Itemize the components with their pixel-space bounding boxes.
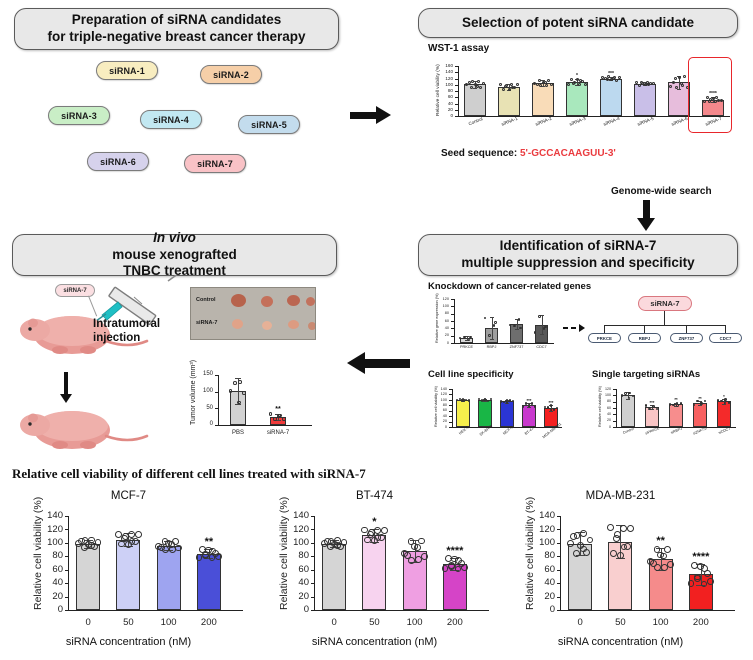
data-point — [162, 546, 169, 553]
y-tick — [557, 610, 560, 611]
genome-wide-search-label: Genome-wide search — [611, 186, 712, 197]
y-tick-label: 80 — [442, 88, 453, 93]
bar-sirbpj — [669, 404, 682, 427]
significance-marker: ** — [195, 536, 223, 548]
y-tick-label: 120 — [442, 76, 453, 81]
data-point — [499, 83, 502, 86]
data-point — [652, 405, 654, 407]
y-tick-label: 140 — [438, 387, 447, 391]
sirna-pill-1: siRNA-1 — [96, 61, 158, 80]
y-axis-title: Relative cell viability (%) — [524, 497, 536, 610]
y-tick — [557, 583, 560, 584]
data-point — [674, 77, 677, 80]
y-tick-label: 80 — [602, 399, 611, 403]
bar-sirna-2 — [532, 83, 553, 116]
gene-tree-branch-4 — [725, 325, 726, 333]
error-cap-bottom — [540, 334, 544, 335]
y-tick-label: 100 — [535, 537, 555, 548]
y-tick — [449, 389, 452, 390]
data-point — [614, 531, 621, 538]
y-tick-label: 60 — [289, 564, 309, 575]
sirna-pill-1-label: siRNA-1 — [109, 66, 145, 76]
y-tick-label: 120 — [43, 524, 63, 535]
y-tick — [557, 516, 560, 517]
data-point — [545, 84, 548, 87]
knockdown-heading: Knockdown of cancer-related genes — [428, 281, 591, 292]
y-tick — [557, 556, 560, 557]
data-point — [617, 552, 624, 559]
gene-node-znf737: ZNF737 — [670, 333, 703, 343]
data-point — [717, 399, 719, 401]
y-tick-label: 40 — [438, 414, 447, 418]
x-tick-label: 200 — [665, 617, 737, 628]
data-point — [408, 557, 415, 564]
panel-invivo-rest: mouse xenografted — [112, 247, 237, 264]
bar-sirna-1 — [498, 87, 519, 116]
y-tick — [455, 116, 458, 117]
sirna-pill-2: siRNA-2 — [200, 65, 262, 84]
y-tick-label: 80 — [43, 550, 63, 561]
data-point — [238, 380, 242, 384]
y-tick — [613, 389, 616, 390]
y-tick — [613, 414, 616, 415]
data-point — [683, 75, 686, 78]
data-point — [242, 391, 246, 395]
sirna-pill-3: siRNA-3 — [48, 106, 110, 125]
x-axis-title: siRNA concentration (nM) — [508, 636, 733, 648]
y-tick — [451, 314, 454, 315]
data-point — [421, 553, 428, 560]
y-tick — [449, 416, 452, 417]
significance-marker: **** — [687, 551, 715, 563]
y-tick-label: 140 — [535, 510, 555, 521]
x-axis-title: siRNA concentration (nM) — [262, 636, 487, 648]
tumor-photo: Control siRNA-7 — [190, 287, 316, 340]
y-tick-label: 140 — [442, 69, 453, 74]
data-point — [282, 417, 286, 421]
chart-cellline-specificity: 020406080100120140Relative cell viabilit… — [428, 383, 566, 445]
bar-control — [464, 84, 485, 116]
error-bar — [542, 315, 543, 334]
panel-identification-line1: Identification of siRNA-7 — [461, 238, 694, 255]
significance-marker: * — [360, 516, 388, 528]
sirna-pill-3-label: siRNA-3 — [61, 111, 97, 121]
data-point — [493, 324, 495, 326]
panel-title-invivo: In vivo mouse xenografted TNBC treatment — [12, 234, 337, 276]
data-point — [621, 394, 623, 396]
data-point — [669, 403, 671, 405]
seed-sequence-line: Seed sequence: 5'-GCCACAAGUU-3' — [441, 148, 616, 159]
data-point — [667, 561, 674, 568]
y-tick-label: 0 — [289, 604, 309, 615]
data-point — [553, 408, 555, 410]
data-point — [456, 399, 458, 401]
gene-node-znf737-label: ZNF737 — [679, 336, 695, 341]
sirna-pill-5-label: siRNA-5 — [251, 120, 287, 130]
y-axis-title: Relative cell viability (%) — [598, 386, 602, 427]
gene-node-prkce-label: PRKCE — [597, 336, 612, 341]
error-cap-bottom — [698, 405, 702, 406]
y-axis — [560, 516, 561, 610]
significance-marker: **** — [441, 545, 469, 557]
error-cap-bottom — [650, 409, 654, 410]
y-tick — [449, 400, 452, 401]
data-point — [638, 84, 641, 87]
y-tick — [613, 427, 616, 428]
y-tick-label: 40 — [440, 326, 449, 330]
sirna-pill-6: siRNA-6 — [87, 152, 149, 171]
y-tick-label: 140 — [43, 510, 63, 521]
gene-node-rbpj-label: RBPJ — [639, 336, 651, 341]
gene-tree-crossbar — [604, 325, 726, 326]
data-point — [580, 530, 587, 537]
data-point — [269, 412, 273, 416]
data-point — [518, 318, 520, 320]
bar-50 — [116, 540, 140, 611]
data-point — [628, 392, 630, 394]
y-axis — [68, 516, 69, 610]
data-point — [418, 538, 425, 545]
data-point — [506, 401, 508, 403]
data-point — [680, 402, 682, 404]
y-tick-label: 0 — [442, 113, 453, 118]
data-point — [624, 543, 631, 550]
data-point — [341, 539, 348, 546]
tumor-dot — [262, 321, 272, 330]
y-tick-label: 0 — [43, 604, 63, 615]
data-point — [620, 525, 627, 532]
data-point — [584, 83, 587, 86]
data-point — [547, 406, 549, 408]
gene-node-rbpj: RBPJ — [628, 333, 661, 343]
data-point — [539, 84, 542, 87]
chart-title: BT-474 — [262, 490, 487, 502]
intratumoral-line1: Intratumoral — [93, 318, 160, 332]
data-point — [481, 399, 483, 401]
y-tick-label: 100 — [199, 388, 213, 394]
mouse-illustration-bottom — [14, 400, 149, 458]
y-tick-label: 100 — [442, 82, 453, 87]
gene-node-cdc7: CDC7 — [709, 333, 742, 343]
bar-sirna-3 — [566, 82, 587, 116]
y-tick — [449, 394, 452, 395]
y-tick — [311, 556, 314, 557]
dashed-arrow-to-gene-tree — [563, 324, 585, 332]
y-tick — [613, 402, 616, 403]
data-point — [516, 83, 519, 86]
y-tick-label: 20 — [438, 419, 447, 423]
single-targeting-heading: Single targeting siRNAs — [592, 369, 700, 380]
data-point — [624, 392, 626, 394]
chart-title: MDA-MB-231 — [508, 490, 733, 502]
data-point — [128, 531, 135, 538]
data-point — [502, 88, 505, 91]
error-cap-bottom — [527, 407, 531, 408]
y-tick — [215, 392, 218, 393]
y-tick — [65, 516, 68, 517]
arrow-identification-to-invivo — [347, 352, 410, 374]
data-point — [522, 405, 524, 407]
y-axis — [452, 389, 453, 427]
sirna-pill-4: siRNA-4 — [140, 110, 202, 129]
data-point — [652, 82, 655, 85]
arrow-invivo-progression — [60, 372, 72, 403]
y-tick — [65, 583, 68, 584]
y-tick — [311, 516, 314, 517]
data-point — [676, 404, 678, 406]
x-axis — [68, 610, 243, 611]
tumor-dot — [287, 295, 300, 306]
data-point — [215, 553, 222, 560]
data-point — [635, 81, 638, 84]
y-tick-label: 160 — [442, 63, 453, 68]
y-tick — [455, 72, 458, 73]
y-tick-label: 20 — [442, 107, 453, 112]
y-tick — [455, 79, 458, 80]
y-tick — [215, 375, 218, 376]
data-point — [273, 417, 277, 421]
data-point — [691, 562, 698, 569]
y-axis — [314, 516, 315, 610]
significance-marker: *** — [597, 71, 625, 77]
y-tick-label: 20 — [602, 418, 611, 422]
data-point — [500, 400, 502, 402]
data-point — [688, 580, 695, 587]
y-tick-label: 20 — [43, 591, 63, 602]
data-point — [135, 531, 142, 538]
y-tick-label: 120 — [289, 524, 309, 535]
data-point — [700, 402, 702, 404]
data-point — [278, 414, 282, 418]
tumor-dot — [306, 297, 315, 306]
panel-identification-line2: multiple suppression and specificity — [461, 255, 694, 272]
chart-bt474: 020406080100120140Relative cell viabilit… — [262, 486, 487, 656]
panel-title-preparation: Preparation of siRNA candidates for trip… — [14, 8, 339, 50]
significance-marker: ** — [264, 406, 292, 413]
y-tick-label: 40 — [289, 577, 309, 588]
data-point — [484, 398, 486, 400]
bar-sicdc7 — [717, 401, 730, 427]
y-tick — [311, 597, 314, 598]
y-axis-title: Relative cell viability (%) — [434, 386, 438, 427]
y-axis-title: Tumor volume (mm³) — [190, 360, 197, 425]
gene-node-prkce: PRKCE — [588, 333, 621, 343]
intratumoral-line2: injection — [93, 332, 160, 346]
y-tick-label: 80 — [289, 550, 309, 561]
bar-0 — [76, 544, 100, 610]
data-point — [469, 336, 471, 338]
y-tick — [311, 543, 314, 544]
y-tick-label: 120 — [602, 387, 611, 391]
y-tick — [451, 336, 454, 337]
error-cap-bottom — [490, 339, 494, 340]
seed-sequence-value: 5'-GCCACAAGUU-3' — [520, 148, 616, 159]
sirna-pill-7-label: siRNA-7 — [197, 159, 233, 169]
wst1-highlight-box — [688, 57, 732, 133]
data-point — [567, 83, 570, 86]
data-point — [672, 81, 675, 84]
significance-marker: * — [563, 73, 591, 79]
y-tick — [613, 421, 616, 422]
x-tick-label: 200 — [173, 617, 245, 628]
y-tick — [455, 85, 458, 86]
y-tick — [557, 570, 560, 571]
y-tick — [451, 343, 454, 344]
data-point — [465, 83, 468, 86]
chart-tumor-volume: 050100150Tumor volume (mm³)PBS**siRNA-7 — [178, 365, 306, 447]
y-axis-title: Relative cell viability (%) — [278, 497, 290, 610]
data-point — [477, 80, 480, 83]
sirna-pill-6-label: siRNA-6 — [100, 157, 136, 167]
data-point — [627, 525, 634, 532]
data-point — [547, 79, 550, 82]
data-point — [509, 399, 511, 401]
y-tick-label: 40 — [442, 101, 453, 106]
data-point — [378, 534, 385, 541]
gene-tree-branch-1 — [604, 325, 605, 333]
y-tick-label: 40 — [602, 412, 611, 416]
y-tick-label: 0 — [535, 604, 555, 615]
data-point — [567, 540, 574, 547]
y-tick-label: 0 — [438, 425, 447, 429]
x-axis — [218, 425, 312, 426]
y-axis — [218, 375, 219, 425]
y-tick — [449, 427, 452, 428]
tumor-dot — [308, 322, 316, 330]
error-cap-bottom — [677, 89, 681, 90]
tumor-photo-label-control: Control — [196, 297, 216, 303]
significance-marker: *** — [537, 400, 565, 405]
panel-invivo-line1: In vivo mouse xenografted — [112, 230, 237, 264]
panel-title-selection: Selection of potent siRNA candidate — [418, 8, 738, 38]
y-tick — [215, 408, 218, 409]
data-point — [487, 400, 489, 402]
y-tick-label: 120 — [440, 297, 449, 301]
data-point — [513, 325, 515, 327]
y-tick — [311, 529, 314, 530]
data-point — [503, 401, 505, 403]
panel-title-identification: Identification of siRNA-7 multiple suppr… — [418, 234, 738, 276]
sirna-pill-5: siRNA-5 — [238, 115, 300, 134]
data-point — [512, 400, 514, 402]
x-tick-label: siRNA-7 — [242, 430, 314, 436]
y-tick — [65, 610, 68, 611]
y-tick — [557, 543, 560, 544]
y-axis — [454, 299, 455, 343]
gene-tree-trunk — [664, 311, 665, 325]
x-axis — [560, 610, 735, 611]
data-point — [538, 315, 540, 317]
y-tick — [451, 306, 454, 307]
significance-marker: * — [710, 394, 738, 399]
data-point — [728, 401, 730, 403]
y-axis — [458, 66, 459, 116]
tumor-dot — [261, 296, 273, 307]
y-tick — [455, 110, 458, 111]
data-point — [505, 84, 508, 87]
y-tick-label: 120 — [535, 524, 555, 535]
y-tick-label: 150 — [199, 371, 213, 377]
y-tick-label: 120 — [438, 392, 447, 396]
significance-marker: ** — [647, 535, 675, 547]
data-point — [468, 399, 470, 401]
y-tick — [455, 91, 458, 92]
gene-tree-root-sirna7: siRNA-7 — [638, 296, 692, 311]
y-tick — [451, 328, 454, 329]
data-point — [720, 400, 722, 402]
sirna-pill-2-label: siRNA-2 — [213, 70, 249, 80]
y-tick — [449, 405, 452, 406]
y-axis-title: Relative cell viability (%) — [32, 497, 44, 610]
data-point — [574, 532, 581, 539]
error-cap-top — [235, 378, 241, 379]
data-point — [587, 537, 594, 544]
y-tick-label: 0 — [199, 421, 213, 427]
data-point — [484, 317, 486, 319]
y-tick — [455, 97, 458, 98]
x-axis — [314, 610, 489, 611]
y-axis-title: Relative cell viability (%) — [436, 64, 441, 116]
y-tick — [449, 422, 452, 423]
data-point — [672, 404, 674, 406]
wst1-heading: WST-1 assay — [428, 43, 489, 54]
y-tick-label: 40 — [535, 577, 555, 588]
y-tick — [557, 529, 560, 530]
panel-preparation-line1: Preparation of siRNA candidates — [47, 12, 305, 29]
y-tick — [451, 321, 454, 322]
bar-50 — [362, 535, 386, 610]
y-tick — [65, 597, 68, 598]
data-point — [707, 578, 714, 585]
bar-100 — [157, 546, 181, 610]
tumor-dot — [232, 319, 243, 329]
bar-mcf-7 — [500, 401, 514, 427]
y-tick — [455, 104, 458, 105]
y-tick — [449, 411, 452, 412]
y-tick — [215, 425, 218, 426]
bar-sirna-4 — [600, 79, 621, 117]
y-tick-label: 0 — [602, 425, 611, 429]
y-tick-label: 40 — [43, 577, 63, 588]
data-point — [233, 381, 237, 385]
data-point — [488, 334, 490, 336]
data-point — [678, 76, 681, 79]
data-point — [607, 524, 614, 531]
data-point — [648, 408, 650, 410]
error-cap-bottom — [515, 329, 519, 330]
error-cap-top — [490, 317, 494, 318]
error-cap-bottom — [473, 88, 477, 89]
y-tick — [311, 583, 314, 584]
data-point — [132, 538, 139, 545]
y-tick-label: 140 — [289, 510, 309, 521]
y-tick — [613, 408, 616, 409]
y-tick-label: 60 — [438, 408, 447, 412]
gene-tree-branch-2 — [644, 325, 645, 333]
chart-mda-mb-231: 020406080100120140Relative cell viabilit… — [508, 486, 733, 656]
data-point — [508, 88, 511, 91]
y-axis — [616, 389, 617, 427]
data-point — [494, 321, 496, 323]
tumor-photo-label-sirna7: siRNA-7 — [196, 320, 217, 326]
panel-invivo-italic: In vivo — [112, 230, 237, 247]
y-tick-label: 100 — [438, 398, 447, 402]
y-tick — [65, 543, 68, 544]
y-tick-label: 100 — [289, 537, 309, 548]
bar-siznf737 — [693, 403, 706, 427]
gene-node-cdc7-label: CDC7 — [720, 336, 732, 341]
bar-0 — [322, 544, 346, 610]
